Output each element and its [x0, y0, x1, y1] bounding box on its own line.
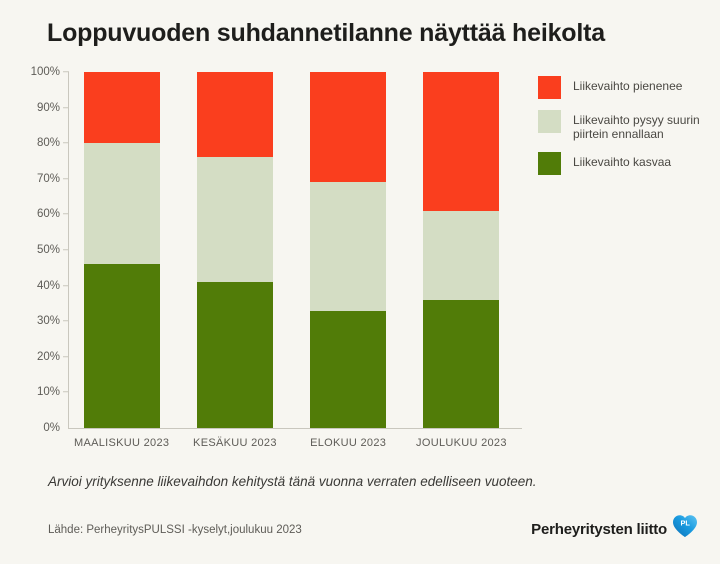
bar-series-container	[69, 72, 522, 428]
bar-group	[423, 72, 499, 428]
y-axis-tick-label: 70%	[37, 173, 60, 185]
heart-pl-icon: PL	[672, 514, 698, 538]
y-axis-tick-label: 100%	[31, 66, 60, 78]
legend-item-label: Liikevaihto pysyy suurin piirtein ennall…	[573, 110, 714, 141]
y-axis-tick-label: 50%	[37, 244, 60, 256]
legend-item-label: Liikevaihto kasvaa	[573, 152, 671, 169]
legend-item[interactable]: Liikevaihto pienenee	[538, 76, 714, 99]
legend-item-label: Liikevaihto pienenee	[573, 76, 682, 93]
bar-group	[197, 72, 273, 428]
x-axis-category-label: JOULUKUU 2023	[416, 437, 507, 449]
bar-segment	[84, 143, 160, 264]
brand-logo: Perheyritysten liitto PL	[531, 520, 698, 538]
y-axis-tick-label: 10%	[37, 386, 60, 398]
bar-segment	[197, 282, 273, 428]
y-axis-tick-label: 0%	[43, 422, 60, 434]
y-axis-tick-label: 60%	[37, 208, 60, 220]
legend-item[interactable]: Liikevaihto pysyy suurin piirtein ennall…	[538, 110, 714, 141]
bar-group	[84, 72, 160, 428]
chart-plot-area: 0%10%20%30%40%50%60%70%80%90%100% MAALIS…	[68, 72, 522, 429]
y-axis-tick-label: 80%	[37, 137, 60, 149]
y-axis-tick-label: 40%	[37, 280, 60, 292]
x-axis-category-label: MAALISKUU 2023	[74, 437, 169, 449]
bar-segment	[197, 157, 273, 282]
chart-question-note: Arvioi yrityksenne liikevaihdon kehityst…	[48, 474, 537, 489]
chart-legend: Liikevaihto pieneneeLiikevaihto pysyy su…	[538, 76, 714, 186]
chart-source: Lähde: PerheyritysPULSSI -kyselyt,jouluk…	[48, 524, 302, 536]
legend-color-swatch	[538, 76, 561, 99]
bar-segment	[423, 211, 499, 300]
bar-segment	[423, 72, 499, 211]
bar-group	[310, 72, 386, 428]
bar-segment	[84, 72, 160, 143]
legend-color-swatch	[538, 110, 561, 133]
bar-segment	[423, 300, 499, 428]
y-axis-tick-label: 20%	[37, 351, 60, 363]
brand-logo-text: Perheyritysten liitto	[531, 521, 667, 538]
legend-color-swatch	[538, 152, 561, 175]
legend-item[interactable]: Liikevaihto kasvaa	[538, 152, 714, 175]
svg-text:PL: PL	[680, 518, 690, 527]
y-axis-tick-label: 90%	[37, 102, 60, 114]
bar-segment	[197, 72, 273, 157]
y-axis-tick-label: 30%	[37, 315, 60, 327]
x-axis-category-label: KESÄKUU 2023	[193, 437, 277, 449]
bar-segment	[310, 72, 386, 182]
page-title: Loppuvuoden suhdannetilanne näyttää heik…	[47, 19, 605, 48]
bar-segment	[310, 182, 386, 310]
bar-segment	[84, 264, 160, 428]
x-axis-category-label: ELOKUU 2023	[310, 437, 386, 449]
bar-segment	[310, 311, 386, 428]
